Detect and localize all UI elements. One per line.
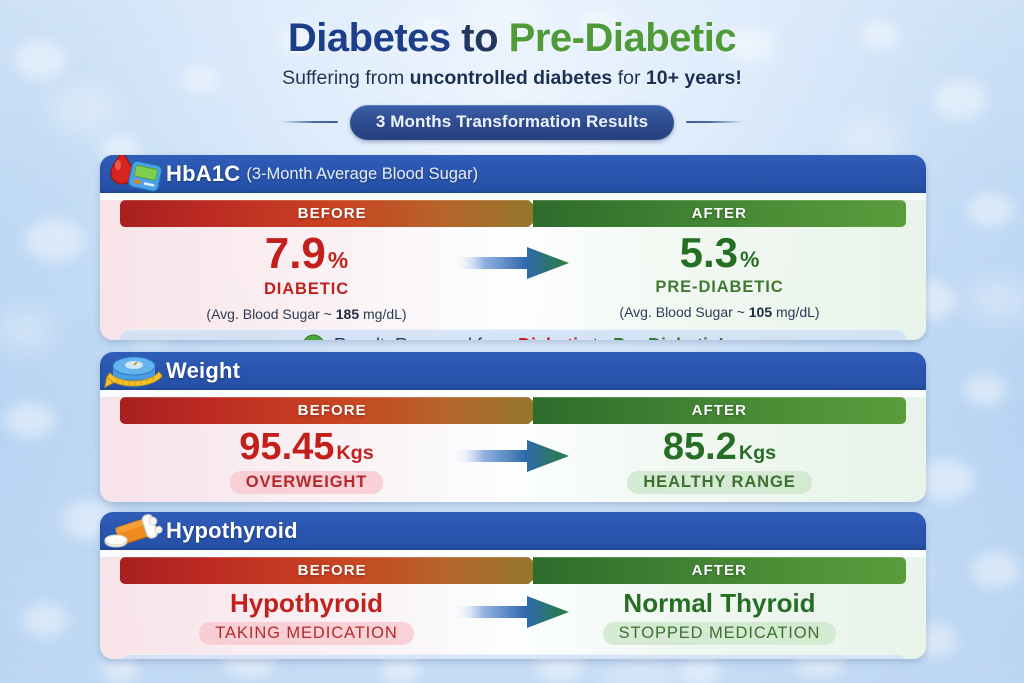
card-weight-after: 85.2Kgs HEALTHY RANGE [513, 428, 926, 494]
before-note-prefix: (Avg. Blood Sugar ~ [206, 306, 335, 322]
title-part-to: to [461, 16, 498, 60]
weight-scale-icon [105, 357, 162, 387]
after-value: Normal Thyroid [623, 588, 815, 618]
card-thyroid-body: BEFORE AFTER Hypothyroid TAKING MEDICATI… [100, 557, 926, 659]
card-thyroid-bars: BEFORE AFTER [120, 557, 906, 584]
before-note: (Avg. Blood Sugar ~ 185 mg/dL) [100, 306, 513, 322]
after-unit: Kgs [739, 442, 776, 464]
before-value-wrap: Hypothyroid [100, 590, 513, 617]
card-thyroid-result: Result: Medicine completely stopped for … [120, 654, 906, 659]
page-subtitle: Suffering from uncontrolled diabetes for… [0, 69, 1024, 89]
card-weight-title: Weight [166, 358, 240, 384]
after-value: 85.2 [663, 426, 737, 468]
result-middle: to [588, 335, 613, 340]
card-thyroid-before: Hypothyroid TAKING MEDICATION [100, 590, 513, 645]
card-thyroid-values: Hypothyroid TAKING MEDICATION Normal Thy… [100, 590, 926, 645]
card-hba1c-values: 7.9% DIABETIC (Avg. Blood Sugar ~ 185 mg… [100, 231, 926, 322]
subtitle-prefix: Suffering from [282, 67, 410, 89]
before-label: BEFORE [120, 200, 544, 227]
after-value-wrap: Normal Thyroid [513, 590, 926, 617]
badge-row: 3 Months Transformation Results [0, 105, 1024, 140]
after-label: AFTER [533, 397, 906, 424]
result-highlight-red: Diabetic [518, 335, 588, 340]
card-hba1c-title: HbA1C [166, 161, 240, 187]
card-hba1c-after: 5.3% PRE-DIABETIC (Avg. Blood Sugar ~ 10… [513, 231, 926, 322]
after-tag: STOPPED MEDICATION [603, 622, 837, 645]
card-thyroid-after: Normal Thyroid STOPPED MEDICATION [513, 590, 926, 645]
after-note-value: 105 [749, 304, 772, 320]
before-unit: % [328, 247, 348, 273]
after-value: 5.3 [680, 229, 738, 276]
after-value-wrap: 5.3% [513, 231, 926, 275]
card-thyroid-title: Hypothyroid [166, 518, 298, 544]
card-thyroid-icons [100, 512, 166, 550]
card-weight-before: 95.45Kgs OVERWEIGHT [100, 428, 513, 494]
before-note-suffix: mg/dL) [359, 306, 406, 322]
pill-tablet-icon [105, 535, 127, 547]
card-hba1c-body: BEFORE AFTER 7.9% DIABETIC (Avg. Blood S… [100, 200, 926, 340]
before-value: 7.9 [265, 229, 326, 278]
card-hba1c-result: Result: Reversed from Diabetic to Pre-Di… [120, 329, 906, 340]
transformation-arrow-icon [453, 436, 573, 476]
after-note-prefix: (Avg. Blood Sugar ~ [619, 304, 748, 320]
transformation-arrow-icon [453, 243, 573, 283]
before-value-wrap: 95.45Kgs [100, 428, 513, 468]
before-value-wrap: 7.9% [100, 231, 513, 277]
card-weight-icons [100, 352, 166, 390]
card-thyroid-header: Hypothyroid [100, 512, 926, 550]
card-hba1c-result-text: Result: Reversed from Diabetic to Pre-Di… [334, 335, 724, 340]
transformation-arrow-icon [453, 592, 573, 632]
glucose-meter-icon [128, 160, 163, 192]
card-weight-body: BEFORE AFTER 95.45Kgs OVERWEIGHT 85.2Kgs [100, 397, 926, 502]
before-value: Hypothyroid [230, 588, 383, 618]
before-tag: OVERWEIGHT [230, 471, 383, 494]
card-hba1c-before: 7.9% DIABETIC (Avg. Blood Sugar ~ 185 mg… [100, 231, 513, 322]
subtitle-bold-uncontrolled: uncontrolled diabetes [410, 67, 613, 89]
before-label: BEFORE [120, 397, 544, 424]
transformation-badge: 3 Months Transformation Results [350, 105, 674, 140]
after-tag: HEALTHY RANGE [627, 471, 811, 494]
card-hba1c: HbA1C (3-Month Average Blood Sugar) BEFO… [100, 155, 926, 340]
before-note-value: 185 [336, 306, 359, 322]
after-label: AFTER [533, 557, 906, 584]
result-prefix: Result: Reversed from [334, 335, 518, 340]
result-highlight-green: Pre-Diabetic! [613, 335, 724, 340]
card-weight-header: Weight [100, 352, 926, 390]
before-value: 95.45 [239, 426, 334, 468]
before-tag: TAKING MEDICATION [199, 622, 413, 645]
card-thyroid: Hypothyroid BEFORE AFTER Hypothyroid TAK… [100, 512, 926, 659]
card-hba1c-subtitle: (3-Month Average Blood Sugar) [246, 165, 478, 184]
before-label: BEFORE [120, 557, 544, 584]
page-title: Diabetes to Pre-Diabetic [0, 18, 1024, 58]
card-weight: Weight BEFORE AFTER 95.45Kgs OVERWEIGHT [100, 352, 926, 502]
card-hba1c-bars: BEFORE AFTER [120, 200, 906, 227]
card-weight-values: 95.45Kgs OVERWEIGHT 85.2Kgs HEALTHY RANG… [100, 428, 926, 494]
divider-line-right [686, 121, 744, 123]
card-hba1c-icons [100, 155, 166, 193]
after-note: (Avg. Blood Sugar ~ 105 mg/dL) [513, 304, 926, 320]
check-circle-icon [302, 334, 325, 340]
title-part-diabetes: Diabetes [288, 16, 451, 60]
before-tag: DIABETIC [264, 280, 349, 299]
page-header: Diabetes to Pre-Diabetic Suffering from … [0, 18, 1024, 140]
subtitle-bold-years: 10+ years! [646, 67, 742, 89]
card-weight-bars: BEFORE AFTER [120, 397, 906, 424]
divider-line-left [280, 121, 338, 123]
title-part-prediabetic: Pre-Diabetic [509, 16, 736, 60]
card-hba1c-header: HbA1C (3-Month Average Blood Sugar) [100, 155, 926, 193]
after-label: AFTER [533, 200, 906, 227]
after-note-suffix: mg/dL) [772, 304, 819, 320]
after-value-wrap: 85.2Kgs [513, 428, 926, 468]
subtitle-middle: for [612, 67, 646, 89]
after-tag: PRE-DIABETIC [655, 278, 783, 297]
before-unit: Kgs [336, 442, 373, 464]
after-unit: % [740, 247, 759, 272]
